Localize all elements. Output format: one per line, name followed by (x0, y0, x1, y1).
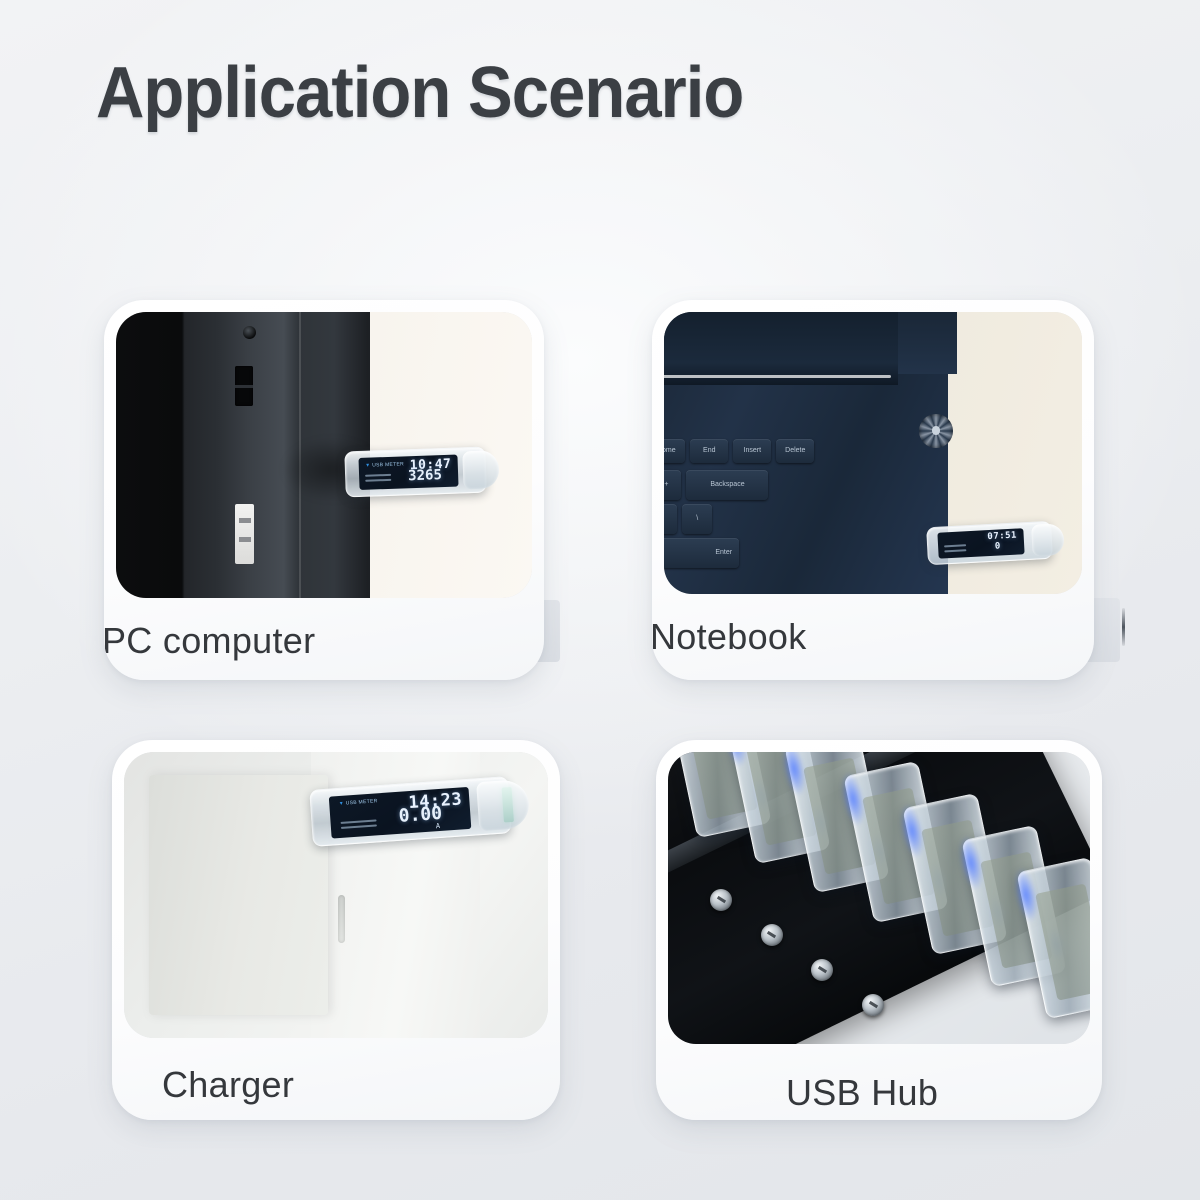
key-insert: Insert (733, 439, 771, 463)
usb-drive-device: ▼ USB METER 10:47 3265 (344, 447, 487, 498)
keyboard-row-enter: Enter (664, 538, 739, 568)
scenario-grid: ▼ USB METER 10:47 3265 PC computer Home (0, 0, 1200, 1200)
key-backspace: Backspace (686, 470, 768, 500)
key-bracket: ] (664, 504, 677, 534)
drive-screen-time: 07:51 (987, 530, 1017, 542)
drive-screen-labels (340, 820, 377, 833)
usb-port (235, 366, 253, 406)
drive-screen-unit: A (435, 822, 440, 830)
scenario-card-notebook[interactable]: Home End Insert Delete + Backspace ] \ E… (652, 300, 1094, 680)
keyboard-row-function: Home End Insert Delete (664, 439, 814, 463)
key-home: Home (664, 439, 685, 463)
audio-jack-icon (243, 326, 256, 339)
key-backslash: \ (682, 504, 712, 534)
key-delete: Delete (776, 439, 814, 463)
scenario-label-usb-hub: USB Hub (786, 1044, 1090, 1114)
keyboard-row-brackets: ] \ (664, 504, 712, 534)
scenario-photo-pc-computer: ▼ USB METER 10:47 3265 (116, 312, 532, 598)
drive-screen-value: 0 (995, 541, 1001, 551)
hub-screw-icon (761, 924, 783, 946)
drive-screen-brand: ▼ USB METER (338, 799, 377, 808)
laptop-lid (664, 312, 898, 385)
scenario-photo-usb-hub (668, 752, 1090, 1044)
scenario-card-charger[interactable]: ▼ USB METER 14:23 0.00 A Charger (112, 740, 560, 1120)
scenario-photo-charger: ▼ USB METER 14:23 0.00 A (124, 752, 548, 1038)
scenario-label-charger: Charger (162, 1038, 548, 1106)
drive-brand-text: USB METER (345, 799, 377, 807)
scenario-photo-notebook: Home End Insert Delete + Backspace ] \ E… (664, 312, 1082, 594)
drive-brand-text: USB METER (372, 461, 404, 468)
scenario-card-usb-hub[interactable]: USB Hub (656, 740, 1102, 1120)
drive-screen-labels (365, 474, 391, 485)
drive-oled-screen: 07:51 0 (938, 527, 1026, 558)
edge-marker (1122, 608, 1125, 646)
drive-screen-value: 3265 (408, 467, 442, 484)
tower-sticker (235, 504, 254, 564)
usb-drive-device: 07:51 0 (926, 520, 1053, 565)
charger-usb-slot (338, 895, 345, 943)
key-enter: Enter (664, 538, 739, 568)
laptop-hinge (898, 312, 957, 374)
drive-oled-screen: ▼ USB METER 10:47 3265 (358, 455, 458, 490)
scenario-label-notebook: Notebook (652, 594, 1082, 658)
keyboard-row-numpad: + Backspace (664, 470, 768, 500)
scenario-card-pc-computer[interactable]: ▼ USB METER 10:47 3265 PC computer (104, 300, 544, 680)
laptop-vent-icon (919, 414, 953, 448)
drive-screen-labels (944, 543, 967, 554)
key-end: End (690, 439, 728, 463)
drive-screen-brand: ▼ USB METER (365, 461, 404, 468)
scenario-label-pc-computer: PC computer (104, 598, 532, 662)
drive-oled-screen: ▼ USB METER 14:23 0.00 A (328, 787, 471, 839)
key-plus: + (664, 470, 681, 500)
charger-body (149, 775, 327, 1015)
